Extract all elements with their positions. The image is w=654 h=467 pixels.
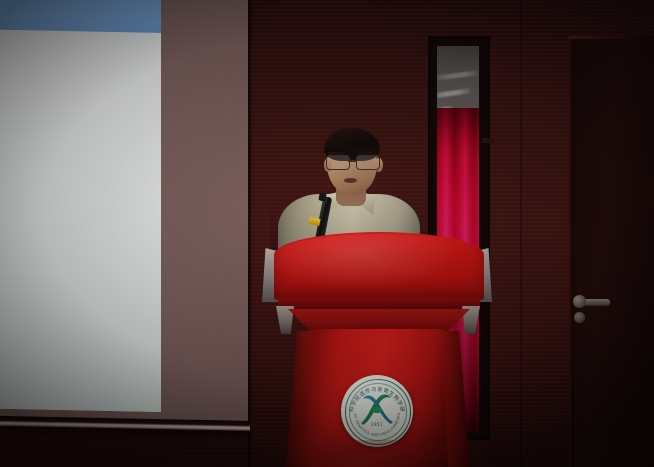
eyeglasses-icon [325, 155, 380, 169]
slide-header-band [0, 0, 161, 33]
wall-seam-floor [0, 452, 260, 454]
slide-body: 制度 文件 [0, 29, 161, 412]
lectern-under-band [288, 309, 470, 331]
institution-emblem: 中国科学院遗传与发育生物学研究所 INSTITUTE OF GENETICS A… [341, 375, 413, 447]
floor-light-glow [250, 440, 510, 467]
presenter-mouth [344, 178, 357, 183]
emblem-center-node [373, 407, 382, 413]
wall-seam-right [520, 0, 522, 467]
door-lock-cylinder[interactable] [574, 312, 585, 323]
side-door[interactable] [574, 36, 654, 467]
lectern-lip [278, 298, 480, 310]
screen-surface: 制度 文件 [0, 0, 161, 412]
presentation-photo-scene: 制度 文件 [0, 0, 654, 467]
door-handle-rosette [573, 295, 586, 308]
doorframe-notch [482, 138, 495, 143]
eyeglass-bridge [348, 160, 357, 162]
microphone-yellow-band [308, 217, 320, 226]
projection-screen: 制度 文件 [0, 0, 252, 434]
emblem-year-text: 1951 [341, 422, 413, 427]
eyeglass-lens-left [326, 155, 350, 170]
lectern-front-panel [274, 232, 484, 300]
eyeglass-lens-right [356, 155, 380, 170]
door-head-trim [569, 36, 654, 39]
